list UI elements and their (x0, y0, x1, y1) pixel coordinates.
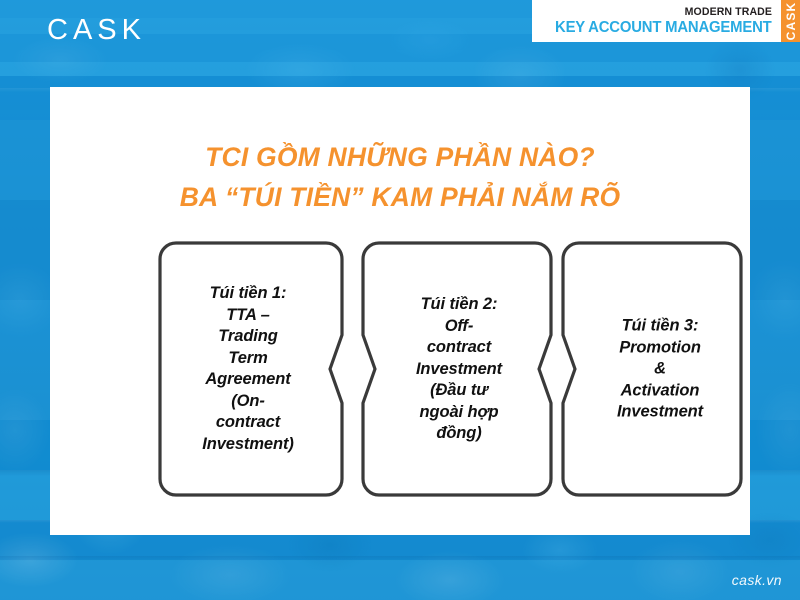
header-badge-side-tab: CASK (781, 0, 800, 42)
page-title: TCI GỒM NHỮNG PHẦN NÀO? BA “TÚI TIỀN” KA… (50, 137, 750, 217)
content-card: TCI GỒM NHỮNG PHẦN NÀO? BA “TÚI TIỀN” KA… (50, 87, 750, 535)
flow-box-2-label: Túi tiền 2: Off- contract Investment (Đầ… (387, 294, 531, 445)
site-watermark: cask.vn (732, 572, 782, 588)
page-title-line-1: TCI GỒM NHỮNG PHẦN NÀO? (50, 137, 750, 177)
header-badge: MODERN TRADE KEY ACCOUNT MANAGEMENT CASK (532, 0, 800, 42)
flow-box-1: Túi tiền 1: TTA – Trading Term Agreement… (158, 241, 344, 497)
three-pocket-flow-diagram: Túi tiền 1: TTA – Trading Term Agreement… (50, 241, 750, 501)
header-badge-labels: MODERN TRADE KEY ACCOUNT MANAGEMENT (532, 0, 781, 42)
header-badge-tab-label: CASK (784, 2, 798, 41)
header-badge-line2: KEY ACCOUNT MANAGEMENT (555, 19, 772, 36)
flow-box-3-label: Túi tiền 3: Promotion & Activation Inves… (591, 315, 729, 423)
page-title-line-2: BA “TÚI TIỀN” KAM PHẢI NẮM RÕ (50, 177, 750, 217)
flow-box-1-label: Túi tiền 1: TTA – Trading Term Agreement… (172, 283, 324, 455)
cask-logo: CASK (47, 16, 146, 45)
flow-box-3: Túi tiền 3: Promotion & Activation Inves… (561, 241, 743, 497)
flow-box-2: Túi tiền 2: Off- contract Investment (Đầ… (361, 241, 553, 497)
slide-canvas: CASK MODERN TRADE KEY ACCOUNT MANAGEMENT… (0, 0, 800, 600)
header-badge-line1: MODERN TRADE (685, 6, 772, 19)
